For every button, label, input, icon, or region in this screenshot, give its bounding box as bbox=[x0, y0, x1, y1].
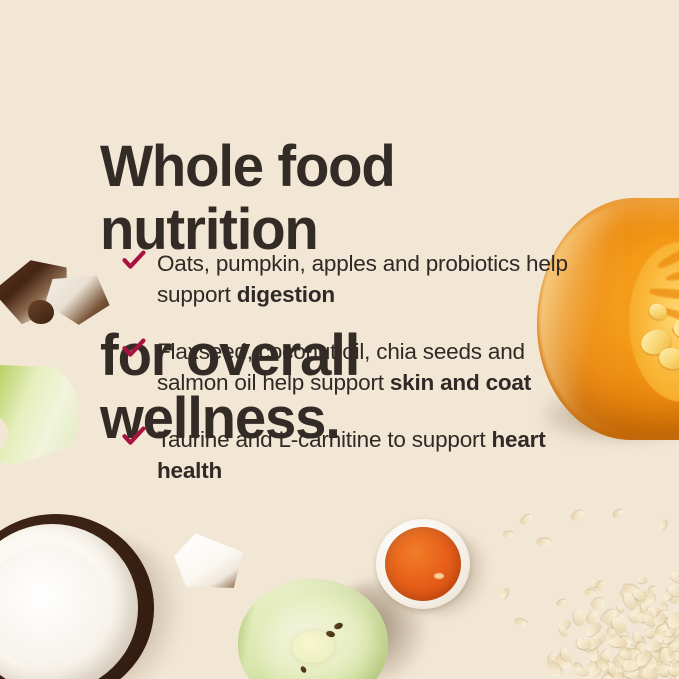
list-item-text-bold: digestion bbox=[237, 282, 335, 307]
oat-flake bbox=[618, 628, 629, 638]
oat-flake bbox=[609, 666, 616, 676]
oat-flake bbox=[633, 653, 646, 669]
oat-flake bbox=[633, 675, 650, 679]
apple-slice-notch bbox=[0, 410, 10, 459]
oat-flake bbox=[642, 667, 659, 679]
oat-flake bbox=[674, 667, 679, 679]
oat-flake bbox=[656, 658, 668, 669]
coconut-husk bbox=[0, 514, 154, 679]
oat-flake bbox=[638, 608, 651, 621]
oat-flake bbox=[636, 611, 654, 624]
list-item-text: Flaxseed, coconut oil, chia seeds and sa… bbox=[157, 336, 592, 398]
oat-flake bbox=[609, 631, 623, 643]
oat-flake bbox=[664, 648, 679, 665]
oat-flake bbox=[635, 635, 645, 649]
oat-flake bbox=[655, 626, 667, 642]
oat-flake bbox=[653, 663, 670, 675]
apple-skin-edge bbox=[238, 579, 388, 679]
oat-flake bbox=[645, 606, 657, 624]
apple-seed bbox=[325, 630, 335, 638]
oat-flake bbox=[619, 589, 631, 600]
oat-flake bbox=[640, 652, 660, 671]
list-item: Taurine and L-carnitine to support heart… bbox=[122, 424, 592, 486]
oat-flake bbox=[648, 606, 661, 617]
oat-flake bbox=[669, 656, 679, 674]
oat-flake bbox=[558, 625, 569, 637]
oat-flake bbox=[632, 631, 642, 644]
oat-flake bbox=[593, 632, 606, 642]
oat-flake bbox=[654, 623, 667, 636]
oat-flake bbox=[626, 650, 644, 668]
oat-flake bbox=[633, 589, 645, 599]
oat-flake bbox=[556, 617, 572, 631]
apple-body bbox=[238, 579, 388, 679]
oat-flake bbox=[613, 614, 627, 632]
oat-flake bbox=[642, 675, 658, 679]
oat-flake bbox=[547, 652, 559, 667]
oat-flake bbox=[575, 676, 592, 679]
oat-flake bbox=[594, 580, 607, 593]
list-item: Oats, pumpkin, apples and probiotics hel… bbox=[122, 248, 592, 310]
oat-flake bbox=[621, 591, 639, 611]
apple-slice-image bbox=[0, 353, 85, 472]
oat-flake bbox=[659, 662, 673, 671]
checkmark-icon bbox=[122, 250, 146, 272]
oat-flake bbox=[599, 648, 613, 665]
oat-flake bbox=[637, 654, 648, 664]
oat-flake bbox=[519, 513, 534, 527]
oat-flake bbox=[626, 670, 642, 679]
pumpkin-seed bbox=[638, 326, 673, 357]
oat-flake bbox=[621, 665, 639, 675]
oat-flake bbox=[647, 586, 658, 596]
oat-flake bbox=[644, 590, 655, 604]
oat-flake bbox=[577, 639, 591, 649]
oat-flake bbox=[606, 612, 620, 628]
oat-flake bbox=[669, 676, 679, 679]
oat-flake bbox=[601, 653, 612, 662]
oat-flake bbox=[669, 571, 679, 585]
oat-flake bbox=[575, 637, 585, 650]
oat-flake bbox=[661, 644, 679, 664]
oat-flake bbox=[651, 642, 671, 659]
rolled-oats-image bbox=[495, 507, 679, 679]
coconut-half-image bbox=[0, 510, 188, 679]
pumpkin-seed bbox=[657, 346, 679, 372]
oat-flake bbox=[612, 671, 624, 679]
oat-flake bbox=[634, 589, 648, 599]
oat-flake bbox=[626, 649, 640, 658]
checkmark-icon bbox=[122, 426, 146, 448]
oat-flake bbox=[620, 645, 638, 657]
oat-flake bbox=[614, 635, 633, 652]
oat-flake bbox=[554, 656, 572, 673]
oat-flake bbox=[662, 630, 677, 645]
oat-flake bbox=[545, 659, 564, 679]
oat-flake bbox=[500, 587, 510, 600]
oat-flake bbox=[584, 621, 602, 639]
coconut-crumb-image bbox=[28, 300, 54, 324]
oat-flake bbox=[651, 611, 667, 628]
checkmark-icon bbox=[122, 338, 146, 360]
list-item-text: Oats, pumpkin, apples and probiotics hel… bbox=[157, 248, 592, 310]
oat-flake bbox=[586, 658, 604, 678]
oat-flake bbox=[672, 617, 679, 636]
oat-flake bbox=[658, 601, 668, 614]
oat-flake bbox=[656, 664, 672, 676]
oat-flake bbox=[663, 588, 676, 603]
oat-flake bbox=[642, 611, 655, 623]
oat-flake bbox=[629, 654, 646, 672]
oat-flake bbox=[665, 585, 679, 605]
oat-flake bbox=[661, 675, 676, 679]
salmon-oil-bowl-image bbox=[376, 519, 488, 619]
oat-flake bbox=[637, 576, 647, 582]
pumpkin-fiber bbox=[656, 238, 679, 270]
oat-flake bbox=[641, 651, 659, 666]
oat-flake bbox=[615, 603, 625, 613]
oat-flake bbox=[664, 627, 676, 638]
oat-flake bbox=[601, 671, 610, 679]
oat-flake bbox=[559, 646, 573, 662]
oat-flake bbox=[606, 663, 618, 677]
coconut-chunk-image bbox=[0, 250, 80, 332]
oat-flake bbox=[644, 630, 654, 637]
oat-flake bbox=[618, 663, 636, 679]
bowl-glint bbox=[434, 573, 444, 579]
oat-flake bbox=[601, 675, 612, 679]
coconut-flesh bbox=[0, 524, 138, 679]
oat-flake bbox=[617, 656, 633, 670]
coconut-chunk-body bbox=[0, 250, 80, 332]
oat-flake bbox=[646, 639, 663, 655]
oat-flake bbox=[575, 666, 591, 677]
oat-flake bbox=[582, 674, 601, 679]
oat-flake bbox=[587, 658, 598, 666]
list-item-text-bold: skin and coat bbox=[390, 370, 531, 395]
oat-flake bbox=[645, 627, 657, 640]
oat-flake bbox=[619, 646, 633, 660]
oat-flake bbox=[628, 648, 643, 661]
oat-flake bbox=[627, 674, 641, 679]
oat-flake bbox=[644, 663, 661, 679]
pumpkin-seed bbox=[670, 313, 679, 340]
oat-flake bbox=[599, 607, 619, 626]
oat-flake bbox=[632, 610, 643, 618]
oat-flake bbox=[585, 644, 600, 664]
benefit-list: Oats, pumpkin, apples and probiotics hel… bbox=[122, 248, 592, 486]
list-item-text-regular: Oats, pumpkin, apples and probiotics hel… bbox=[157, 251, 568, 307]
oat-flake bbox=[612, 659, 626, 676]
oat-flake bbox=[670, 650, 679, 658]
oat-flake bbox=[612, 650, 633, 670]
headline-line-1: Whole food nutrition bbox=[100, 135, 604, 261]
oat-flake bbox=[665, 640, 679, 656]
oat-flake bbox=[597, 658, 610, 672]
oat-flake bbox=[589, 597, 607, 613]
pumpkin-seed bbox=[647, 301, 670, 322]
apple-shadow bbox=[324, 581, 434, 679]
oat-flake bbox=[632, 641, 645, 656]
apple-seed bbox=[333, 622, 344, 631]
oat-flake bbox=[667, 665, 679, 677]
apple-slice-body bbox=[0, 353, 85, 472]
oat-flake bbox=[632, 606, 651, 620]
oat-flake bbox=[628, 612, 640, 624]
oat-flake bbox=[645, 650, 662, 666]
oat-flake bbox=[571, 609, 586, 627]
bowl-oil bbox=[385, 527, 461, 601]
pumpkin-cavity bbox=[629, 242, 679, 402]
oat-flake bbox=[674, 657, 679, 674]
oat-flake bbox=[672, 632, 679, 651]
pumpkin-fiber bbox=[665, 261, 679, 283]
bowl-shadow bbox=[402, 533, 494, 619]
list-item: Flaxseed, coconut oil, chia seeds and sa… bbox=[122, 336, 592, 398]
oat-flake bbox=[584, 588, 596, 598]
green-apple-half-image bbox=[238, 575, 398, 679]
oat-flake bbox=[649, 649, 665, 663]
bowl-dish bbox=[376, 519, 470, 609]
oat-flake bbox=[643, 613, 661, 632]
oat-flake bbox=[612, 508, 624, 519]
oat-flake bbox=[622, 658, 641, 673]
coconut-wedge-body bbox=[170, 525, 254, 601]
oat-flake bbox=[662, 631, 670, 642]
oat-flake bbox=[653, 618, 670, 633]
oat-flake bbox=[637, 660, 654, 678]
oat-flake bbox=[585, 637, 603, 653]
oat-flake bbox=[656, 609, 670, 621]
oat-flake bbox=[621, 583, 640, 596]
oat-flake bbox=[556, 598, 567, 607]
oat-flake bbox=[554, 652, 574, 671]
list-item-text-regular: Taurine and L-carnitine to support bbox=[157, 427, 491, 452]
oat-flake bbox=[665, 642, 679, 658]
oat-flake bbox=[669, 638, 676, 648]
pumpkin-fiber bbox=[649, 287, 679, 302]
oat-flake bbox=[668, 585, 679, 596]
oat-flake bbox=[601, 672, 617, 679]
coconut-wedge-image bbox=[170, 525, 254, 601]
oat-flake bbox=[661, 655, 672, 669]
oat-flake bbox=[571, 662, 584, 673]
oat-flake bbox=[654, 646, 671, 663]
oat-flake bbox=[641, 663, 654, 674]
oat-flake bbox=[503, 532, 513, 538]
oat-flake bbox=[642, 614, 657, 628]
oat-flake bbox=[635, 596, 644, 607]
oat-flake bbox=[634, 670, 649, 679]
oat-flake bbox=[631, 588, 649, 604]
oat-flake bbox=[513, 617, 528, 627]
oat-flake bbox=[659, 518, 668, 530]
oat-flake bbox=[588, 660, 599, 672]
oat-flake bbox=[610, 615, 630, 635]
oat-flake bbox=[606, 634, 615, 645]
coconut-shadow bbox=[16, 538, 192, 679]
list-item-text: Taurine and L-carnitine to support heart… bbox=[157, 424, 592, 486]
oat-flake bbox=[635, 648, 654, 669]
oat-flake bbox=[600, 661, 611, 669]
oat-flake bbox=[666, 610, 679, 631]
coconut-hollow bbox=[0, 544, 110, 668]
oat-flake bbox=[614, 665, 622, 676]
oat-flake bbox=[585, 609, 599, 626]
oat-flake bbox=[640, 651, 661, 668]
oat-flake bbox=[649, 658, 660, 672]
oat-flake bbox=[537, 539, 551, 547]
oat-flake bbox=[605, 627, 616, 637]
apple-core bbox=[292, 631, 334, 663]
oat-flake bbox=[669, 671, 679, 679]
pumpkin-fiber bbox=[659, 306, 679, 331]
promo-canvas: Whole food nutrition for overall wellnes… bbox=[0, 0, 679, 679]
oat-flake bbox=[609, 638, 627, 647]
oat-flake bbox=[665, 615, 679, 634]
coconut-crumb-body bbox=[28, 300, 54, 324]
oat-flake bbox=[640, 604, 647, 614]
pumpkin-fiber bbox=[670, 326, 679, 358]
oat-flake bbox=[675, 663, 679, 677]
apple-seed bbox=[300, 665, 308, 674]
oat-flake bbox=[667, 647, 679, 660]
oat-flake bbox=[658, 618, 674, 627]
oat-flake bbox=[635, 641, 647, 652]
oat-flake bbox=[671, 661, 679, 672]
oat-flake bbox=[654, 660, 673, 679]
oat-flake bbox=[658, 647, 669, 663]
oat-flake bbox=[659, 667, 672, 679]
oat-flake bbox=[590, 578, 601, 587]
oat-flake bbox=[580, 637, 597, 653]
oat-flake bbox=[619, 649, 633, 661]
oat-flake bbox=[636, 595, 652, 608]
